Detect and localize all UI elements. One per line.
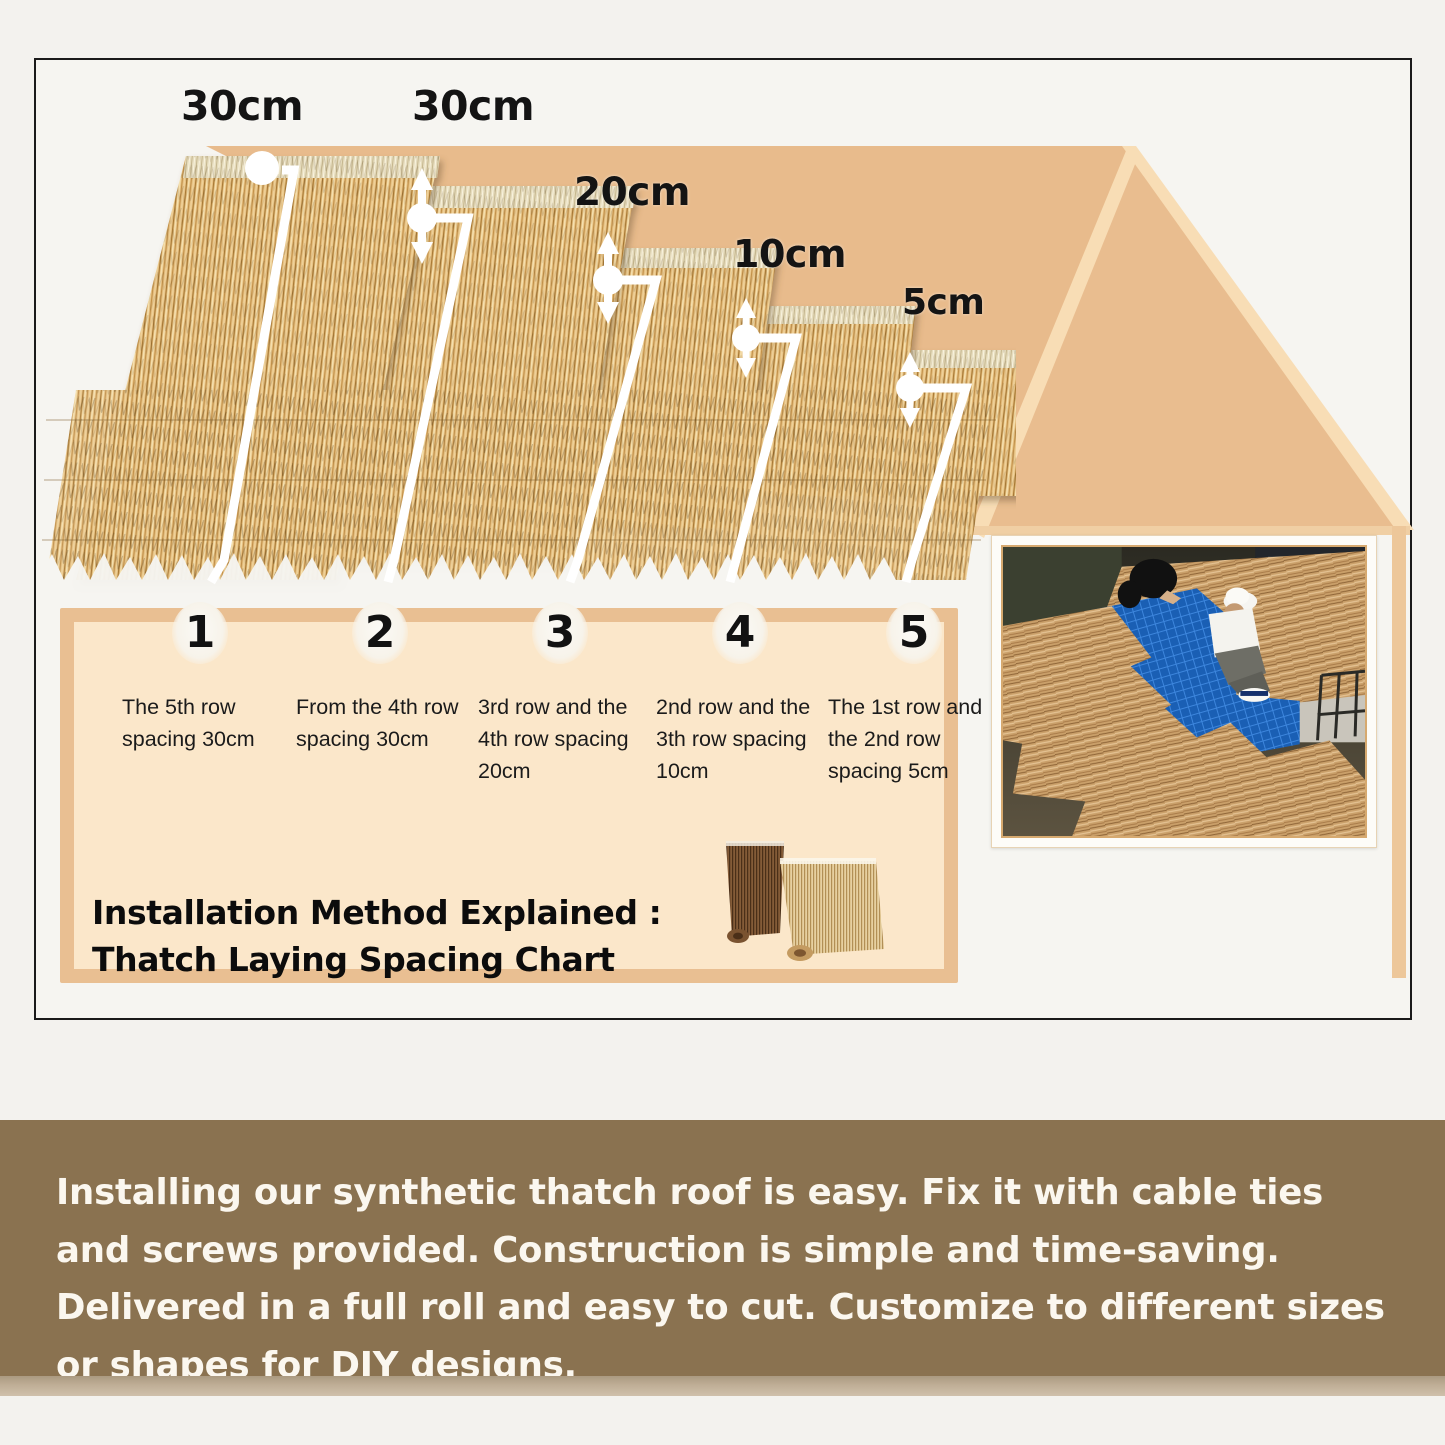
chart-title-line-1: Installation Method Explained : — [92, 890, 661, 937]
thatch-bundle-images — [708, 837, 930, 965]
diagram-frame: 30cm 30cm 20cm 10cm 5cm 1 2 3 4 5 The 5t… — [34, 58, 1412, 1020]
caption-text-1: The 5th row spacing 30cm — [122, 692, 290, 756]
thatch-tip-layers — [38, 390, 996, 620]
badge-3: 3 — [532, 602, 588, 664]
infographic-root: 30cm 30cm 20cm 10cm 5cm 1 2 3 4 5 The 5t… — [0, 0, 1445, 1445]
caption-text-4: 2nd row and the 3th row spacing 10cm — [656, 692, 818, 787]
badge-5: 5 — [886, 602, 942, 664]
dimension-label-10cm: 10cm — [733, 232, 846, 276]
dimension-label-30cm-a: 30cm — [181, 82, 303, 130]
chart-title: Installation Method Explained : Thatch L… — [92, 890, 661, 984]
installation-photo — [1001, 545, 1367, 838]
dimension-label-30cm-b: 30cm — [412, 82, 534, 130]
badge-4: 4 — [712, 602, 768, 664]
banner-bottom-strip — [0, 1376, 1445, 1396]
caption-panel: 1 2 3 4 5 The 5th row spacing 30cm From … — [60, 608, 958, 983]
chart-title-line-2: Thatch Laying Spacing Chart — [92, 937, 661, 984]
dimension-label-5cm: 5cm — [902, 282, 984, 323]
dimension-label-20cm: 20cm — [574, 170, 690, 215]
badge-2: 2 — [352, 602, 408, 664]
thatch-rows-illustration: 30cm 30cm 20cm 10cm 5cm — [36, 60, 996, 620]
bottom-banner: Installing our synthetic thatch roof is … — [0, 1120, 1445, 1376]
thatch-svg — [36, 60, 1016, 630]
house-illustration: 30cm 30cm 20cm 10cm 5cm 1 2 3 4 5 The 5t… — [36, 60, 1414, 1022]
caption-text-2: From the 4th row spacing 30cm — [296, 692, 472, 756]
caption-text-3: 3rd row and the 4th row spacing 20cm — [478, 692, 646, 787]
caption-text-5: The 1st row and the 2nd row spacing 5cm — [828, 692, 988, 787]
installation-photo-frame — [991, 535, 1377, 848]
banner-text: Installing our synthetic thatch roof is … — [56, 1164, 1386, 1394]
badge-1: 1 — [172, 602, 228, 664]
